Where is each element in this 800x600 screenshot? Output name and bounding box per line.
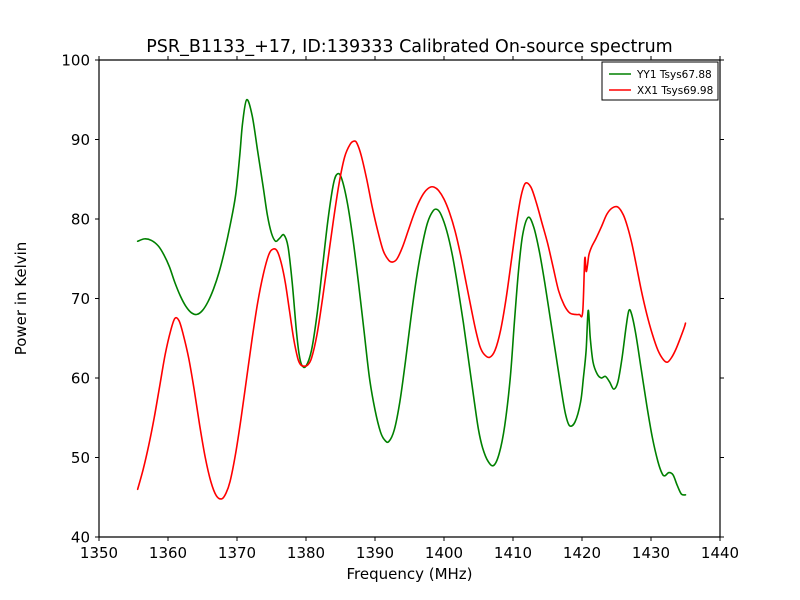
x-tick-label: 1360 bbox=[149, 544, 187, 562]
legend-label-1[interactable]: XX1 Tsys69.98 bbox=[637, 85, 713, 97]
y-tick-label: 70 bbox=[71, 290, 90, 308]
x-tick-label: 1350 bbox=[80, 544, 118, 562]
data-series-group bbox=[138, 100, 686, 499]
y-tick-label: 90 bbox=[71, 131, 90, 149]
y-tick-label: 50 bbox=[71, 449, 90, 467]
series-line-xx1 bbox=[138, 141, 686, 499]
x-tick-label: 1380 bbox=[287, 544, 325, 562]
x-tick-label: 1430 bbox=[632, 544, 670, 562]
legend-label-0[interactable]: YY1 Tsys67.88 bbox=[636, 69, 712, 81]
y-tick-label: 40 bbox=[71, 529, 90, 547]
series-line-yy1 bbox=[138, 100, 686, 495]
y-tick-label: 60 bbox=[71, 370, 90, 388]
x-tick-label: 1410 bbox=[494, 544, 532, 562]
x-tick-label: 1420 bbox=[563, 544, 601, 562]
x-tick-label: 1370 bbox=[218, 544, 256, 562]
axis-ticks bbox=[95, 56, 724, 541]
axis-text-group: 1350136013701380139014001410142014301440… bbox=[61, 52, 739, 563]
x-axis-label: Frequency (MHz) bbox=[346, 565, 472, 583]
legend[interactable]: YY1 Tsys67.88XX1 Tsys69.98 bbox=[602, 62, 718, 100]
y-tick-label: 100 bbox=[61, 52, 90, 70]
page-title: PSR_B1133_+17, ID:139333 Calibrated On-s… bbox=[146, 37, 672, 57]
x-tick-label: 1390 bbox=[356, 544, 394, 562]
y-axis-label: Power in Kelvin bbox=[12, 242, 30, 356]
x-tick-label: 1440 bbox=[701, 544, 739, 562]
spectrum-plot: 1350136013701380139014001410142014301440… bbox=[0, 0, 800, 600]
y-tick-label: 80 bbox=[71, 211, 90, 229]
axes-frame bbox=[99, 60, 720, 537]
x-tick-label: 1400 bbox=[425, 544, 463, 562]
plot-frame bbox=[99, 60, 720, 537]
figure-canvas: 1350136013701380139014001410142014301440… bbox=[0, 0, 800, 600]
